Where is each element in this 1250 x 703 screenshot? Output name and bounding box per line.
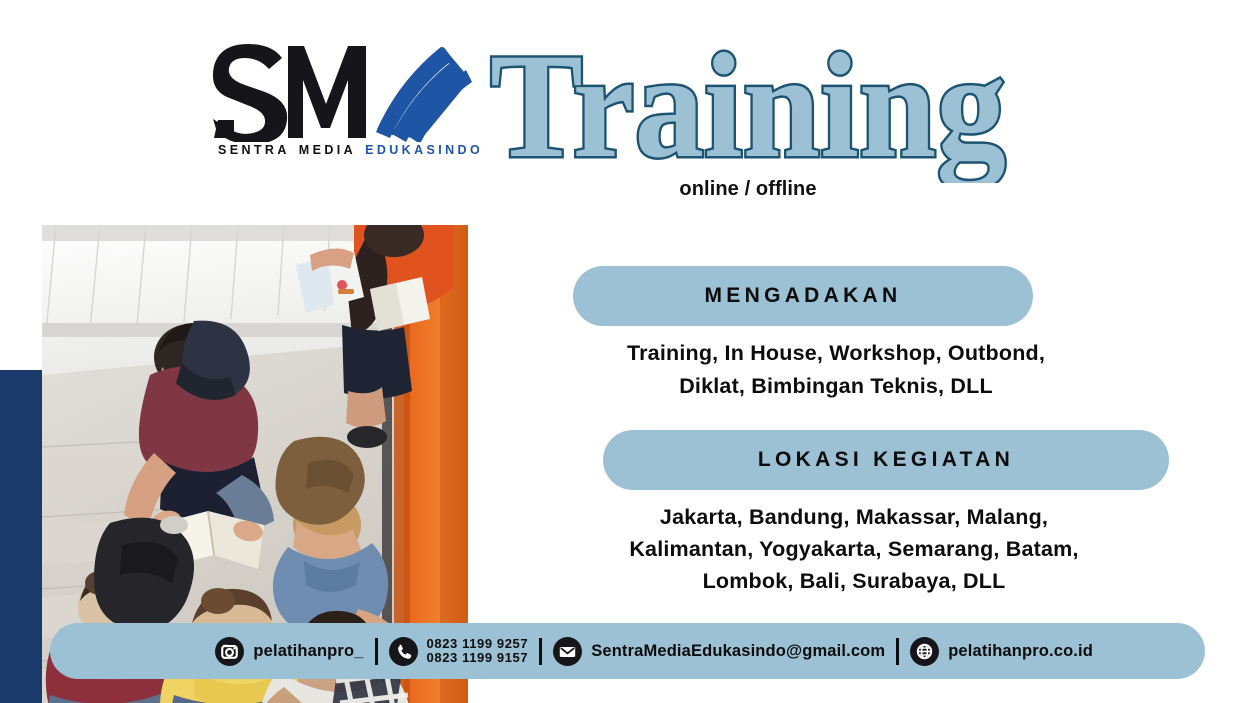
contact-bar: pelatihanpro_ 0823 1199 9257 0823 1199 9… [50, 623, 1205, 679]
globe-icon[interactable] [910, 637, 939, 666]
logo-wordmark: SENTRA MEDIA EDUKASINDO [218, 143, 472, 157]
phone-number-1: 0823 1199 9257 [427, 637, 529, 652]
copy-line: Jakarta, Bandung, Makassar, Malang, [556, 501, 1152, 533]
copy-line: Lombok, Bali, Surabaya, DLL [556, 565, 1152, 597]
headline-training: Training [486, 38, 1010, 183]
copy-lokasi-kegiatan: Jakarta, Bandung, Makassar, Malang, Kali… [556, 501, 1152, 597]
phone-numbers: 0823 1199 9257 0823 1199 9157 [427, 637, 529, 666]
instagram-icon[interactable] [215, 637, 244, 666]
envelope-icon[interactable] [553, 637, 582, 666]
logo-word-media: MEDIA [299, 143, 356, 157]
phone-number-2: 0823 1199 9157 [427, 651, 529, 666]
logo-mark-icon [210, 42, 472, 142]
copy-line: Kalimantan, Yogyakarta, Semarang, Batam, [556, 533, 1152, 565]
pill-lokasi-kegiatan: LOKASI KEGIATAN [603, 430, 1169, 490]
contact-divider [375, 638, 378, 665]
contact-instagram[interactable]: pelatihanpro_ [215, 637, 363, 666]
logo-word-edukasindo: EDUKASINDO [365, 143, 483, 157]
email-address: SentraMediaEdukasindo@gmail.com [591, 642, 885, 661]
phone-icon[interactable] [389, 637, 418, 666]
contact-website[interactable]: pelatihanpro.co.id [910, 637, 1093, 666]
instagram-handle: pelatihanpro_ [253, 642, 363, 661]
headline-title-text: Training [490, 38, 1006, 183]
copy-line: Training, In House, Workshop, Outbond, [556, 337, 1116, 370]
company-logo: SENTRA MEDIA EDUKASINDO [210, 42, 472, 170]
headline-subtitle: online / offline [486, 178, 1010, 201]
logo-word-sentra: SENTRA [218, 143, 290, 157]
copy-line: Diklat, Bimbingan Teknis, DLL [556, 370, 1116, 403]
navy-accent-bar [0, 370, 42, 703]
contact-email[interactable]: SentraMediaEdukasindo@gmail.com [553, 637, 885, 666]
flyer-canvas: SENTRA MEDIA EDUKASINDO Training online … [0, 0, 1250, 703]
copy-mengadakan: Training, In House, Workshop, Outbond, D… [556, 337, 1116, 403]
contact-divider [896, 638, 899, 665]
contact-divider [539, 638, 542, 665]
pill-mengadakan: MENGADAKAN [573, 266, 1033, 326]
website-url: pelatihanpro.co.id [948, 642, 1093, 661]
contact-phone[interactable]: 0823 1199 9257 0823 1199 9157 [389, 637, 529, 666]
